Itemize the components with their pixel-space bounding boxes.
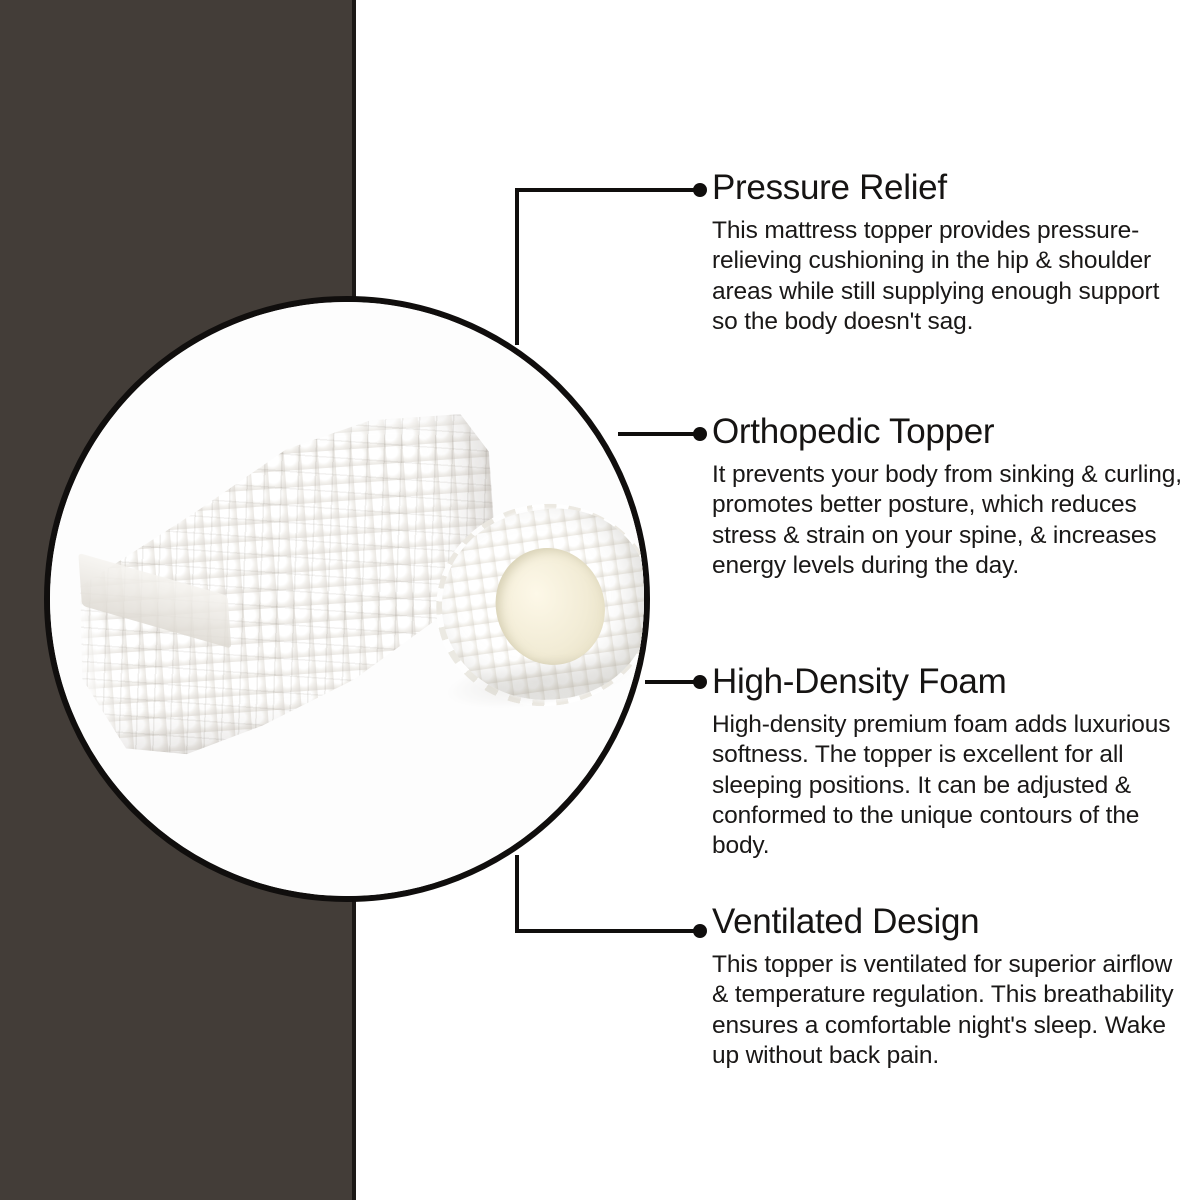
callout-title: Ventilated Design — [712, 902, 1190, 941]
callout-pressure-relief: Pressure Relief This mattress topper pro… — [712, 168, 1190, 337]
callout-body: It prevents your body from sinking & cur… — [712, 460, 1190, 581]
connector-line-3 — [645, 675, 707, 689]
callout-title: Pressure Relief — [712, 168, 1190, 207]
callout-title: Orthopedic Topper — [712, 412, 1190, 451]
foam-rolled-end — [430, 496, 650, 713]
callout-title: High-Density Foam — [712, 662, 1190, 701]
connector-dot-1 — [693, 183, 707, 197]
callout-body: This mattress topper provides pressure-r… — [712, 216, 1190, 337]
product-photo — [50, 302, 644, 896]
connector-dot-3 — [693, 675, 707, 689]
connector-dot-4 — [693, 924, 707, 938]
callout-body: This topper is ventilated for superior a… — [712, 950, 1190, 1071]
callout-high-density-foam: High-Density Foam High-density premium f… — [712, 662, 1190, 861]
callout-body: High-density premium foam adds luxurious… — [712, 710, 1190, 861]
product-photo-circle — [44, 296, 650, 902]
callout-orthopedic-topper: Orthopedic Topper It prevents your body … — [712, 412, 1190, 581]
callout-ventilated-design: Ventilated Design This topper is ventila… — [712, 902, 1190, 1071]
callout-list: Pressure Relief This mattress topper pro… — [712, 0, 1192, 1200]
connector-dot-2 — [693, 427, 707, 441]
